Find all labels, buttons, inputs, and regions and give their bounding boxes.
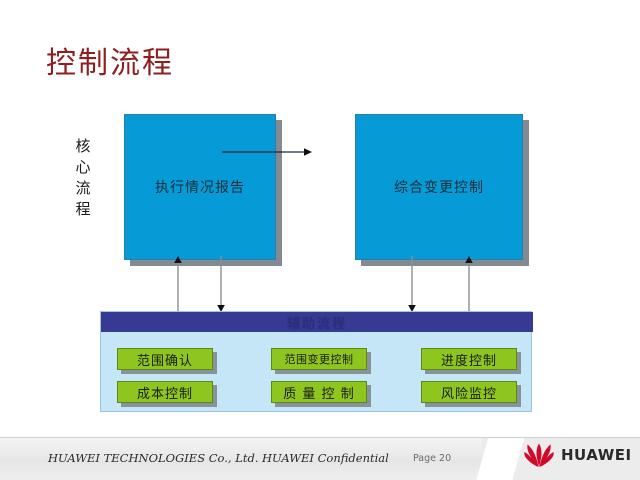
tile-cost-control[interactable]: 成本控制 — [117, 381, 213, 403]
tile-scope-verification-label: 范围确认 — [137, 350, 193, 369]
tile-risk-monitoring-label: 风险监控 — [441, 383, 497, 402]
tile-scope-verification[interactable]: 范围确认 — [117, 348, 213, 370]
huawei-flower-icon — [524, 442, 554, 468]
huawei-wordmark-text: HUAWEI — [561, 446, 632, 464]
footer-confidential-text: HUAWEI Confidential — [262, 451, 389, 465]
core-box-execution-report[interactable]: 执行情况报告 — [124, 114, 276, 260]
slide-canvas: 控制流程 核 心 流 程 执行情况报告 综合变更控制 — [0, 0, 640, 480]
arrow-down-right-icon — [408, 256, 416, 312]
arrow-up-left-icon — [174, 256, 182, 312]
tile-scope-change-control-label: 范围变更控制 — [285, 351, 354, 367]
arrow-right-icon — [222, 146, 314, 158]
tile-scope-change-control[interactable]: 范围变更控制 — [271, 348, 367, 370]
core-label-char-1: 心 — [72, 157, 94, 178]
core-label-char-0: 核 — [72, 136, 94, 157]
core-box-integrated-change-control-label: 综合变更控制 — [394, 177, 484, 197]
tile-schedule-control-label: 进度控制 — [441, 350, 497, 369]
footer-company-text: HUAWEI TECHNOLOGIES Co., Ltd. — [48, 451, 259, 465]
support-process-bar-label: 辅助流程 — [287, 313, 347, 332]
core-box-execution-report-label: 执行情况报告 — [155, 177, 245, 197]
tile-quality-control-label: 质 量 控 制 — [283, 383, 354, 402]
arrow-up-right-icon — [465, 256, 473, 312]
footer-page-number: Page 20 — [413, 453, 451, 464]
support-process-panel: 辅助流程 范围确认 成本控制 范围变更控制 质 量 控 制 进度控制 风险监控 — [100, 311, 532, 412]
tile-cost-control-label: 成本控制 — [137, 383, 193, 402]
tile-quality-control[interactable]: 质 量 控 制 — [271, 381, 367, 403]
core-box-integrated-change-control[interactable]: 综合变更控制 — [355, 114, 523, 260]
support-process-bar: 辅助流程 — [101, 312, 533, 332]
tile-risk-monitoring[interactable]: 风险监控 — [421, 381, 517, 403]
core-label-char-2: 流 — [72, 178, 94, 199]
core-process-vertical-label: 核 心 流 程 — [72, 136, 94, 220]
tile-schedule-control[interactable]: 进度控制 — [421, 348, 517, 370]
vertical-connector-arrows — [95, 256, 495, 314]
arrow-down-left-icon — [217, 256, 225, 312]
page-title: 控制流程 — [46, 38, 174, 82]
core-label-char-3: 程 — [72, 199, 94, 220]
huawei-logo: HUAWEI — [524, 442, 632, 468]
